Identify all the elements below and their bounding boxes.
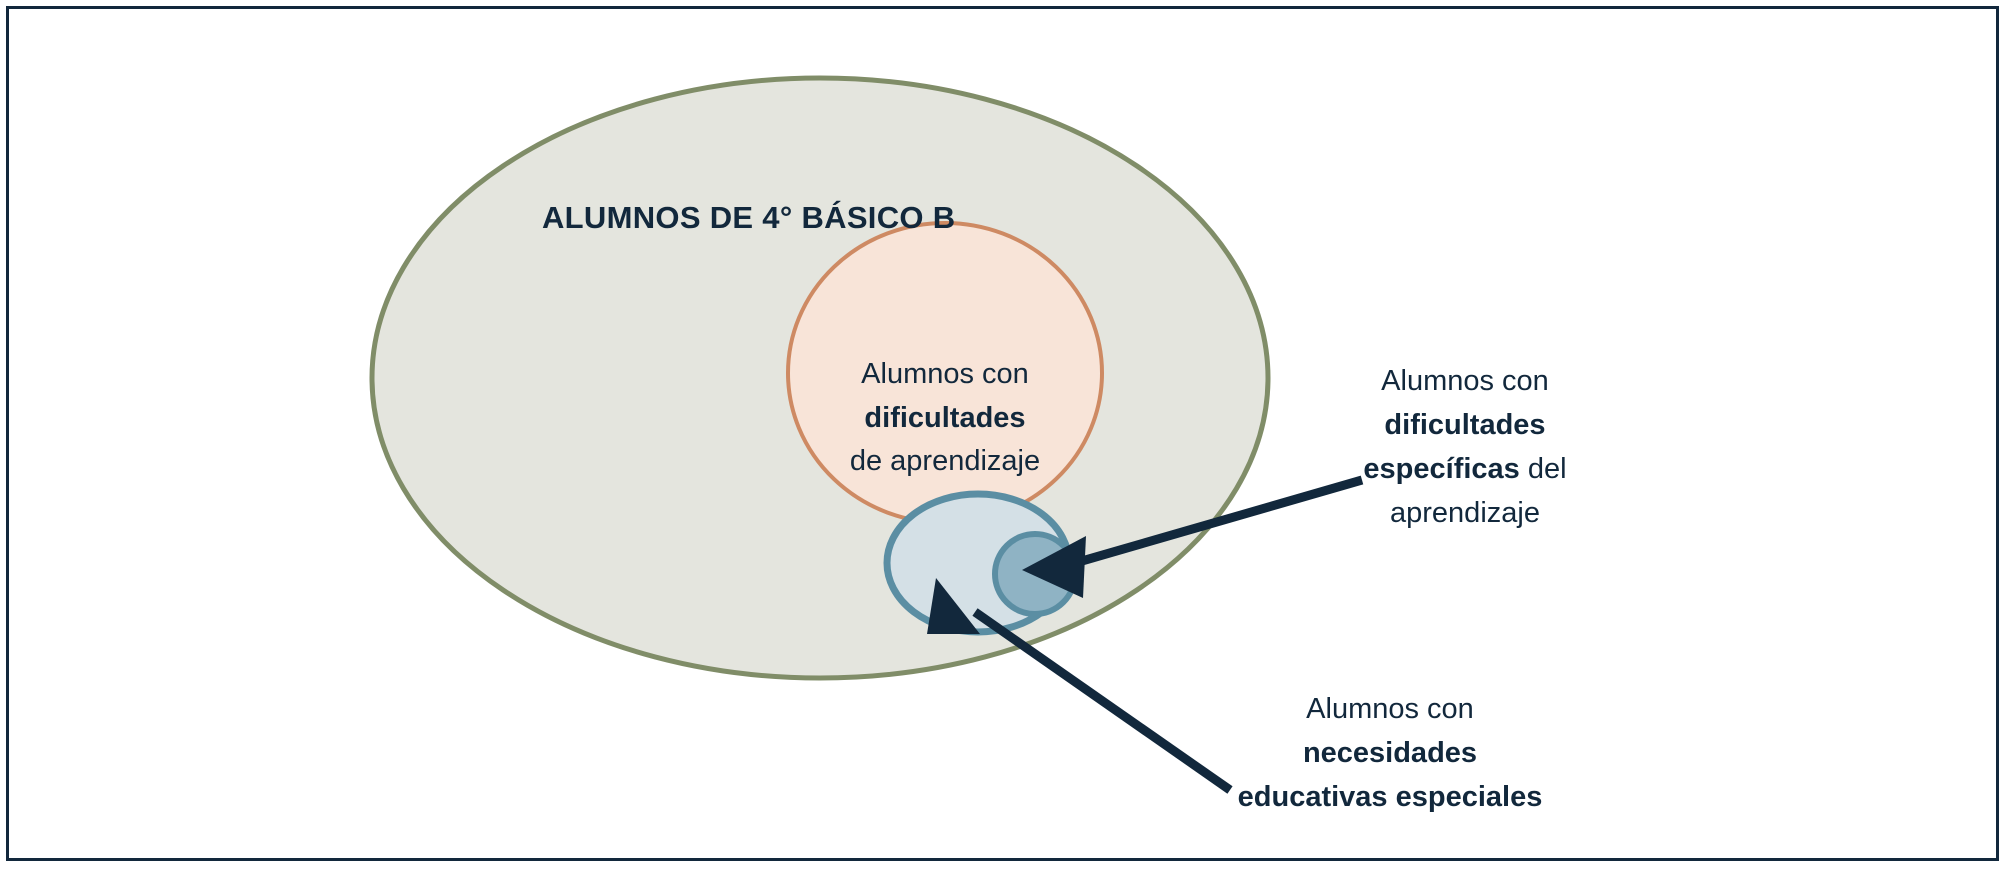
callout-specific-line3-rest: del bbox=[1520, 453, 1567, 485]
callout-specific-line3-bold: específicas bbox=[1363, 453, 1519, 485]
venn-diagram: ALUMNOS DE 4° BÁSICO B Alumnos con dific… bbox=[0, 0, 2009, 871]
inner-label-line1: Alumnos con bbox=[861, 358, 1029, 390]
callout-specific-line4: aprendizaje bbox=[1390, 497, 1540, 529]
callout-specific-line3: específicas del bbox=[1363, 453, 1566, 485]
inner-label-line2: dificultades bbox=[864, 402, 1025, 434]
page-title: ALUMNOS DE 4° BÁSICO B bbox=[542, 200, 955, 235]
callout-specific-line2: dificultades bbox=[1384, 409, 1545, 441]
callout-dificultades-especificas: Alumnos con dificultades específicas del… bbox=[1363, 365, 1566, 529]
callout-needs-line2: necesidades bbox=[1303, 737, 1477, 769]
callout-necesidades-educativas: Alumnos con necesidades educativas espec… bbox=[1238, 693, 1543, 813]
callout-specific-line1: Alumnos con bbox=[1381, 365, 1549, 397]
callout-needs-line3: educativas especiales bbox=[1238, 781, 1543, 813]
diagram-page: ALUMNOS DE 4° BÁSICO B Alumnos con dific… bbox=[0, 0, 2009, 871]
callout-needs-line1: Alumnos con bbox=[1306, 693, 1474, 725]
inner-label-line3: de aprendizaje bbox=[850, 445, 1040, 477]
